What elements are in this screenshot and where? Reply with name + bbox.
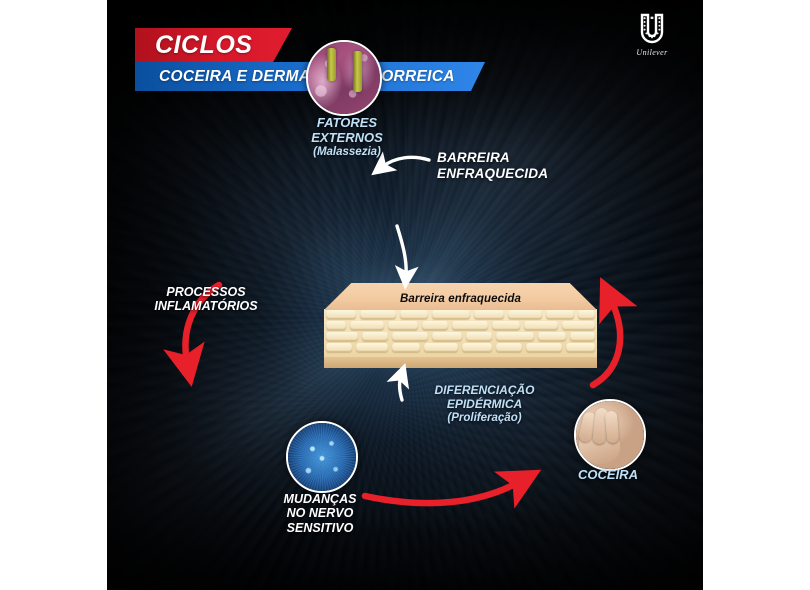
label-line-1: PROCESSOS xyxy=(166,285,245,299)
brand-logo: Unilever xyxy=(623,12,681,57)
neuron-network-photo xyxy=(288,423,356,491)
node-image-mudancas-nervo[interactable] xyxy=(286,421,358,493)
label-text: COCEIRA xyxy=(578,467,638,482)
finger-shape xyxy=(605,410,619,443)
label-sublabel: (Malassezia) xyxy=(287,146,407,159)
node-image-coceira[interactable] xyxy=(574,399,646,471)
infographic-poster: CICLOS COCEIRA E DERMATITE SEBORREICA xyxy=(107,0,703,590)
label-sublabel: (Proliferação) xyxy=(412,412,557,425)
barrier-caption: Barreira enfraquecida xyxy=(400,293,521,305)
unilever-u-icon xyxy=(635,12,669,46)
hair-shaft-icon xyxy=(353,51,362,93)
label-diferenciacao-epidermica: DIFERENCIAÇÃO EPIDÉRMICA (Proliferação) xyxy=(412,384,557,425)
title-banner-primary: CICLOS xyxy=(135,28,292,62)
hand-scratching-scalp-photo xyxy=(576,401,644,469)
skin-barrier-diagram: Barreira enfraquecida xyxy=(324,283,597,368)
barrier-top-face: Barreira enfraquecida xyxy=(324,283,597,310)
barrier-brick-layers xyxy=(324,309,597,359)
label-line-1: BARREIRA xyxy=(437,150,510,165)
label-line-2: NO NERVO xyxy=(287,506,354,520)
label-processos-inflamatorios: PROCESSOS INFLAMATÓRIOS xyxy=(131,285,281,314)
node-image-fatores-externos[interactable] xyxy=(306,40,382,116)
screenshot-canvas: CICLOS COCEIRA E DERMATITE SEBORREICA xyxy=(0,0,810,590)
hair-shaft-icon xyxy=(327,48,336,81)
label-line-1: MUDANÇAS xyxy=(284,492,357,506)
malassezia-microscopy-photo xyxy=(308,42,380,114)
page-title: CICLOS xyxy=(155,31,252,60)
brand-wordmark: Unilever xyxy=(623,48,681,57)
label-line-2: EXTERNOS xyxy=(311,130,383,145)
label-line-2: ENFRAQUECIDA xyxy=(437,166,548,181)
label-line-1: FATORES xyxy=(317,115,377,130)
label-fatores-externos: FATORES EXTERNOS (Malassezia) xyxy=(287,116,407,159)
barrier-base-layer xyxy=(324,357,597,368)
label-line-1: DIFERENCIAÇÃO xyxy=(434,383,534,397)
label-barreira-enfraquecida: BARREIRA ENFRAQUECIDA xyxy=(437,150,577,181)
label-mudancas-nervo-sensitivo: MUDANÇAS NO NERVO SENSITIVO xyxy=(259,492,381,535)
label-coceira: COCEIRA xyxy=(562,468,654,483)
label-line-2: INFLAMATÓRIOS xyxy=(154,299,257,313)
label-line-3: SENSITIVO xyxy=(287,521,354,535)
label-line-2: EPIDÉRMICA xyxy=(447,397,522,411)
